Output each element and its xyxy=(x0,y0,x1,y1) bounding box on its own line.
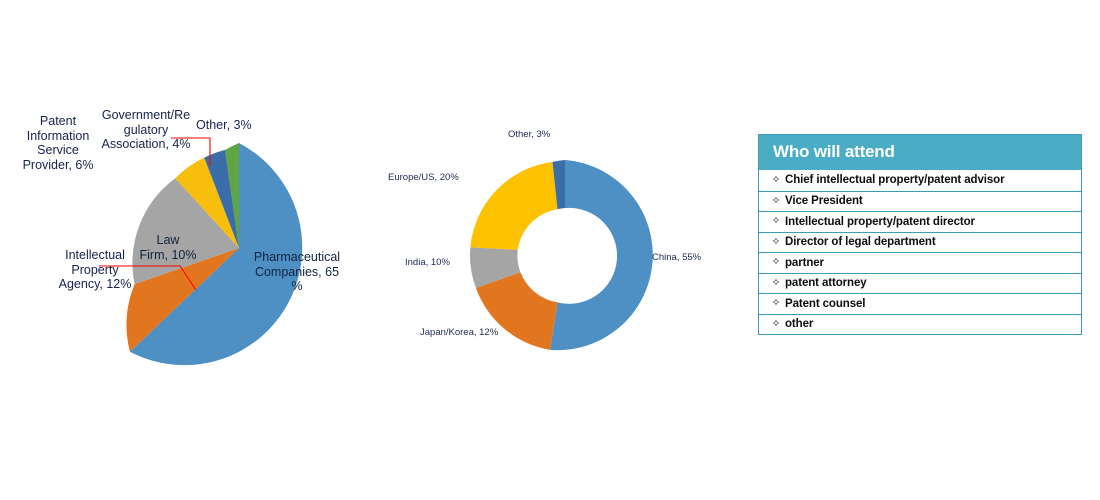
donut-label-europe-us: Europe/US, 20% xyxy=(388,172,459,184)
attendee-row: ✧Chief intellectual property/patent advi… xyxy=(759,170,1081,191)
who-will-attend-table: Who will attend ✧Chief intellectual prop… xyxy=(758,134,1082,335)
pie-label-government: Government/Re gulatory Association, 4% xyxy=(86,108,206,152)
attendee-role-label: Vice President xyxy=(785,195,863,207)
attendee-role-label: Director of legal department xyxy=(785,236,936,248)
diamond-star-bullet-icon: ✧ xyxy=(767,237,785,248)
attendee-row: ✧Patent counsel xyxy=(759,293,1081,314)
attendee-row: ✧patent attorney xyxy=(759,273,1081,294)
diamond-star-bullet-icon: ✧ xyxy=(767,175,785,186)
donut-slice-europe-us xyxy=(470,162,557,250)
diamond-star-bullet-icon: ✧ xyxy=(767,257,785,268)
diamond-star-bullet-icon: ✧ xyxy=(767,278,785,289)
donut-label-india: India, 10% xyxy=(405,257,450,269)
attendee-role-label: patent attorney xyxy=(785,277,867,289)
donut-label-japan-korea: Japan/Korea, 12% xyxy=(420,327,498,339)
donut-slice-china xyxy=(550,160,653,350)
attendee-role-label: partner xyxy=(785,257,824,269)
attendee-row: ✧Director of legal department xyxy=(759,232,1081,253)
diamond-star-bullet-icon: ✧ xyxy=(767,196,785,207)
pie-label-other: Other, 3% xyxy=(196,118,276,133)
donut-label-other: Other, 3% xyxy=(508,129,550,141)
region-donut-chart: Other, 3% Europe/US, 20% India, 10% Japa… xyxy=(380,120,760,370)
diamond-star-bullet-icon: ✧ xyxy=(767,216,785,227)
attendee-table-header: Who will attend xyxy=(759,135,1081,170)
attendee-role-label: Patent counsel xyxy=(785,298,865,310)
attendee-role-label: other xyxy=(785,318,813,330)
organization-type-pie-chart: Patent Information Service Provider, 6% … xyxy=(0,100,400,370)
attendee-row: ✧other xyxy=(759,314,1081,335)
attendee-table-body: ✧Chief intellectual property/patent advi… xyxy=(759,170,1081,334)
diamond-star-bullet-icon: ✧ xyxy=(767,298,785,309)
donut-label-china: China, 55% xyxy=(652,252,701,264)
attendee-role-label: Chief intellectual property/patent advis… xyxy=(785,174,1004,186)
diamond-star-bullet-icon: ✧ xyxy=(767,319,785,330)
attendee-role-label: Intellectual property/patent director xyxy=(785,216,975,228)
attendee-row: ✧Intellectual property/patent director xyxy=(759,211,1081,232)
attendee-row: ✧partner xyxy=(759,252,1081,273)
attendee-row: ✧Vice President xyxy=(759,191,1081,212)
pie-label-ip-agency: Intellectual Property Agency, 12% xyxy=(40,248,150,292)
pie-label-pharmaceutical: Pharmaceutical Companies, 65 % xyxy=(245,250,349,294)
